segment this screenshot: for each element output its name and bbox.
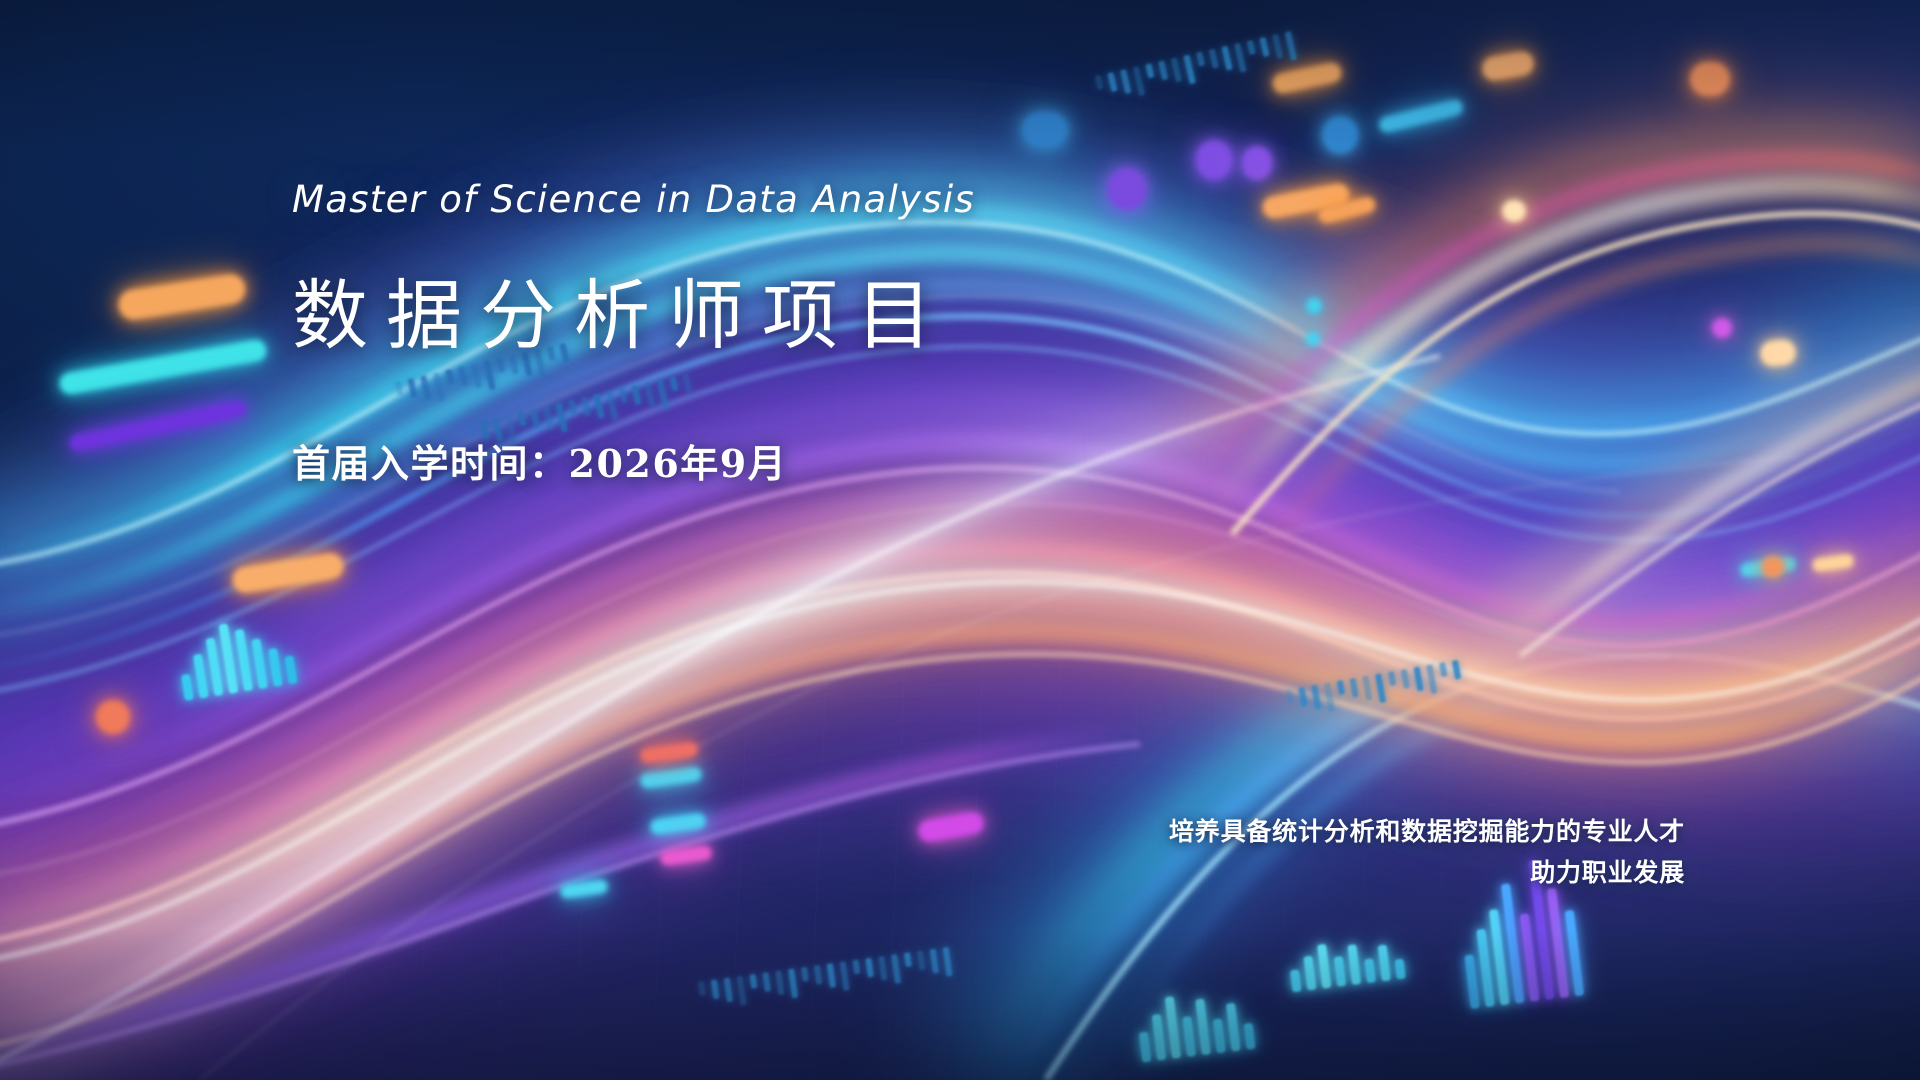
text-layer: Master of Science in Data Analysis 数据分析师… <box>0 0 1920 1080</box>
tagline-line-2: 助力职业发展 <box>1169 853 1685 894</box>
program-english-title: Master of Science in Data Analysis <box>292 178 975 221</box>
tagline-block: 培养具备统计分析和数据挖掘能力的专业人才 助力职业发展 <box>1169 812 1685 893</box>
page-title: 数据分析师项目 <box>292 278 950 354</box>
tagline-line-1: 培养具备统计分析和数据挖掘能力的专业人才 <box>1169 812 1685 853</box>
title-slide: Master of Science in Data Analysis 数据分析师… <box>0 0 1920 1080</box>
intake-date-line: 首届入学时间：2026年9月 <box>292 445 787 483</box>
